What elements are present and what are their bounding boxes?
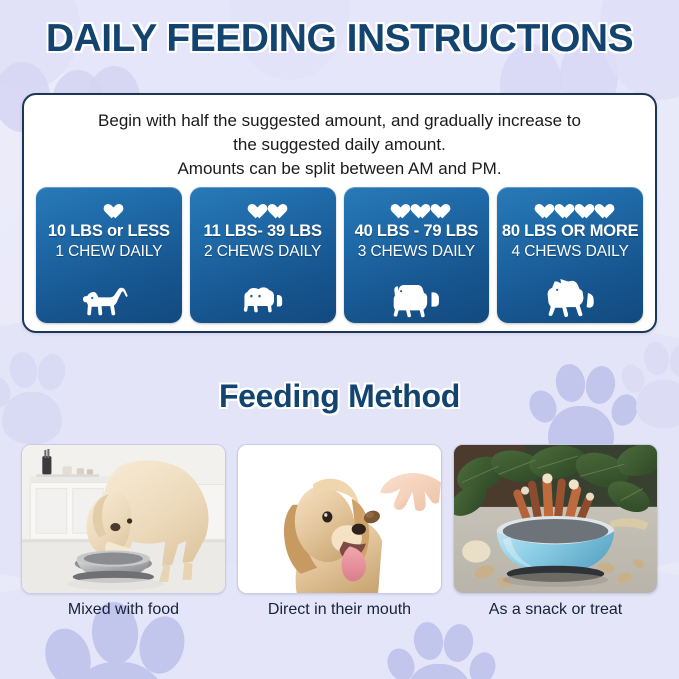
instruction-panel: Begin with half the suggested amount, an… xyxy=(22,93,657,333)
heart-icon xyxy=(264,198,281,214)
card-weight-label: 10 LBS or LESS xyxy=(36,222,182,241)
dog-eating-from-bowl-photo xyxy=(21,444,226,594)
heart-icon xyxy=(408,198,425,214)
card-weight-label: 80 LBS OR MORE xyxy=(497,222,643,241)
weight-dose-card: 40 LBS - 79 LBS 3 CHEWS DAILY xyxy=(344,187,490,323)
hand-feeding-treat-photo xyxy=(237,444,442,594)
heart-icon xyxy=(552,198,569,214)
retriever-silhouette-icon xyxy=(344,270,490,318)
feeding-method-item: Mixed with food xyxy=(22,444,225,619)
weight-dose-card-row: 10 LBS or LESS 1 CHEW DAILY 11 LBS- 39 L… xyxy=(36,187,643,323)
photo-caption: As a snack or treat xyxy=(489,601,622,619)
paw-print-bottom-center xyxy=(378,616,498,679)
heart-rating-icons xyxy=(190,196,336,216)
heart-rating-icons xyxy=(497,196,643,216)
weight-dose-card: 80 LBS OR MORE 4 CHEWS DAILY xyxy=(497,187,643,323)
instruction-line-3: Amounts can be split between AM and PM. xyxy=(48,157,631,181)
heart-icon xyxy=(100,198,117,214)
card-weight-label: 11 LBS- 39 LBS xyxy=(190,222,336,241)
card-weight-label: 40 LBS - 79 LBS xyxy=(344,222,490,241)
card-dose-label: 1 CHEW DAILY xyxy=(36,243,182,261)
card-dose-label: 4 CHEWS DAILY xyxy=(497,243,643,261)
feeding-instructions-page: DAILY FEEDING INSTRUCTIONS Begin with ha… xyxy=(0,0,679,679)
feeding-method-photo-row: Mixed with food xyxy=(22,444,657,619)
weight-dose-card: 11 LBS- 39 LBS 2 CHEWS DAILY xyxy=(190,187,336,323)
photo-caption: Mixed with food xyxy=(68,601,179,619)
heart-rating-icons xyxy=(344,196,490,216)
card-dose-label: 3 CHEWS DAILY xyxy=(344,243,490,261)
heart-icon xyxy=(244,198,261,214)
bulldog-silhouette-icon xyxy=(190,270,336,318)
heart-icon xyxy=(428,198,445,214)
instruction-line-2: the suggested daily amount. xyxy=(48,133,631,157)
weight-dose-card: 10 LBS or LESS 1 CHEW DAILY xyxy=(36,187,182,323)
feeding-method-item: Direct in their mouth xyxy=(238,444,441,619)
photo-caption: Direct in their mouth xyxy=(268,601,411,619)
shepherd-silhouette-icon xyxy=(497,270,643,318)
heart-rating-icons xyxy=(36,196,182,216)
card-dose-label: 2 CHEWS DAILY xyxy=(190,243,336,261)
heart-icon xyxy=(532,198,549,214)
feeding-method-title: Feeding Method xyxy=(0,378,679,415)
heart-icon xyxy=(592,198,609,214)
heart-icon xyxy=(572,198,589,214)
heart-icon xyxy=(388,198,405,214)
feeding-method-item: As a snack or treat xyxy=(454,444,657,619)
puppy-silhouette-icon xyxy=(36,270,182,318)
page-title: DAILY FEEDING INSTRUCTIONS xyxy=(0,17,679,61)
instruction-text: Begin with half the suggested amount, an… xyxy=(48,109,631,181)
blue-bowl-of-chews-photo xyxy=(453,444,658,594)
instruction-line-1: Begin with half the suggested amount, an… xyxy=(48,109,631,133)
